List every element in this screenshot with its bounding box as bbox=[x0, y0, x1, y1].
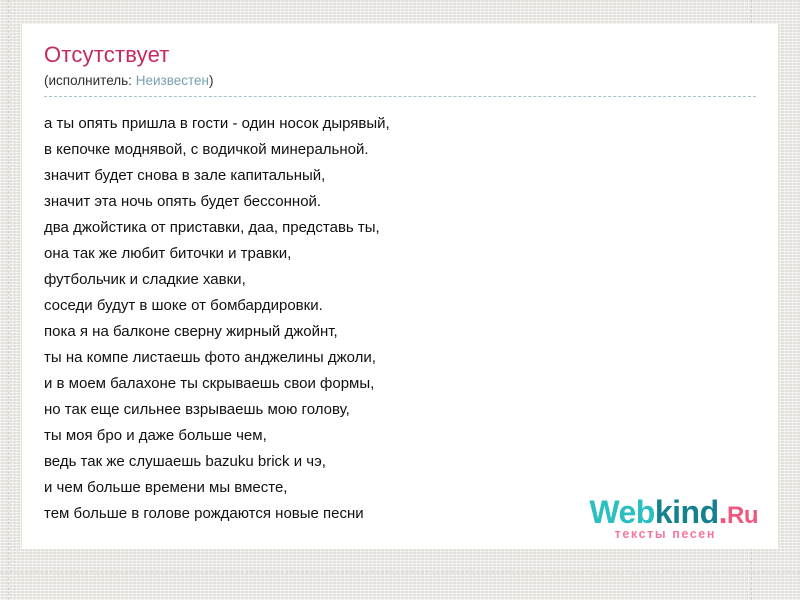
lyrics-line: соседи будут в шоке от бомбардировки. bbox=[44, 293, 778, 319]
site-logo-web: Web bbox=[589, 494, 654, 530]
song-header: Отсутствует (исполнитель: Неизвестен) bbox=[22, 24, 778, 90]
artist-line: (исполнитель: Неизвестен) bbox=[44, 72, 778, 90]
lyrics-line: ты на компе листаешь фото анджелины джол… bbox=[44, 345, 778, 371]
lyrics-line: она так же любит биточки и травки, bbox=[44, 241, 778, 267]
artist-label: (исполнитель: bbox=[44, 73, 132, 88]
site-logo-ru: Ru bbox=[727, 502, 758, 529]
lyrics-line: но так еще сильнее взрываешь мою голову, bbox=[44, 397, 778, 423]
page-title: Отсутствует bbox=[44, 42, 778, 68]
lyrics-line: значит будет снова в зале капитальный, bbox=[44, 163, 778, 189]
lyrics-line: ведь так же слушаешь bazuku brick и чэ, bbox=[44, 449, 778, 475]
lyrics-line: и в моем балахоне ты скрываешь свои форм… bbox=[44, 371, 778, 397]
site-logo-dot: . bbox=[719, 494, 727, 530]
site-logo[interactable]: Webkind.Ru тексты песен bbox=[589, 496, 758, 541]
lyrics-body: а ты опять пришла в гости - один носок д… bbox=[22, 97, 778, 527]
lyrics-line: а ты опять пришла в гости - один носок д… bbox=[44, 111, 778, 137]
lyrics-content-panel: Отсутствует (исполнитель: Неизвестен) а … bbox=[22, 24, 778, 549]
lyrics-line: значит эта ночь опять будет бессонной. bbox=[44, 189, 778, 215]
background-left-edge-rule bbox=[8, 0, 9, 600]
lyrics-line: пока я на балконе сверну жирный джойнт, bbox=[44, 319, 778, 345]
site-logo-kind: kind bbox=[655, 494, 719, 530]
artist-suffix: ) bbox=[209, 73, 214, 88]
lyrics-line: ты моя бро и даже больше чем, bbox=[44, 423, 778, 449]
background-horizontal-rule bbox=[0, 572, 800, 573]
lyrics-line: в кепочке моднявой, с водичкой минеральн… bbox=[44, 137, 778, 163]
artist-link[interactable]: Неизвестен bbox=[136, 73, 209, 88]
lyrics-line: два джойстика от приставки, даа, предста… bbox=[44, 215, 778, 241]
lyrics-line: футбольчик и сладкие хавки, bbox=[44, 267, 778, 293]
